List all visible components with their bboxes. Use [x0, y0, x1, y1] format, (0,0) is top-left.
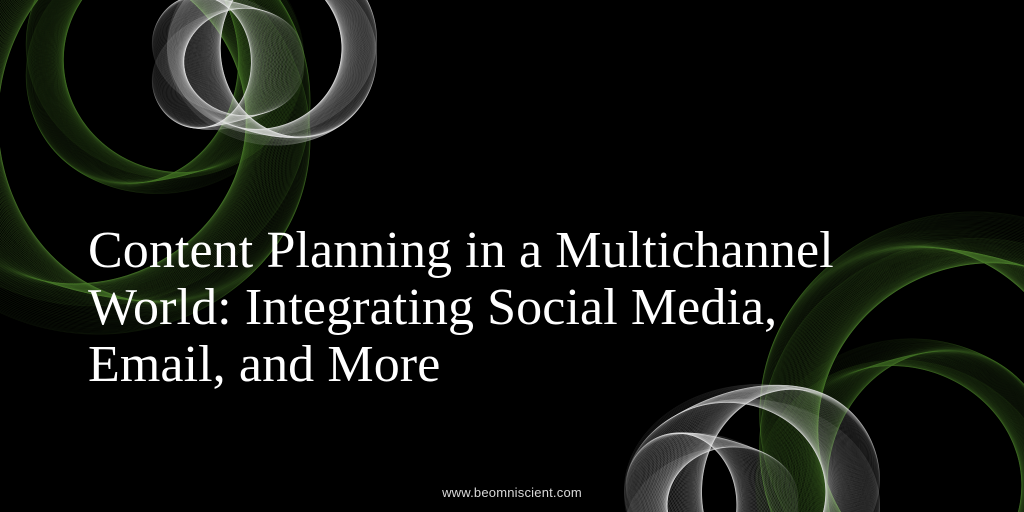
spiral-cluster-green-top-left-small [0, 0, 337, 236]
page-title: Content Planning in a Multichannel World… [88, 222, 948, 393]
title-line-3: Email, and More [88, 336, 948, 393]
title-line-2: World: Integrating Social Media, [88, 279, 948, 336]
site-url: www.beomniscient.com [442, 485, 582, 500]
spiral-cluster-white-top-left-lobe [133, 0, 321, 154]
footer: www.beomniscient.com [0, 484, 1024, 502]
title-line-1: Content Planning in a Multichannel [88, 222, 948, 279]
social-share-card: Content Planning in a Multichannel World… [0, 0, 1024, 512]
spiral-cluster-white-top [148, 0, 403, 173]
